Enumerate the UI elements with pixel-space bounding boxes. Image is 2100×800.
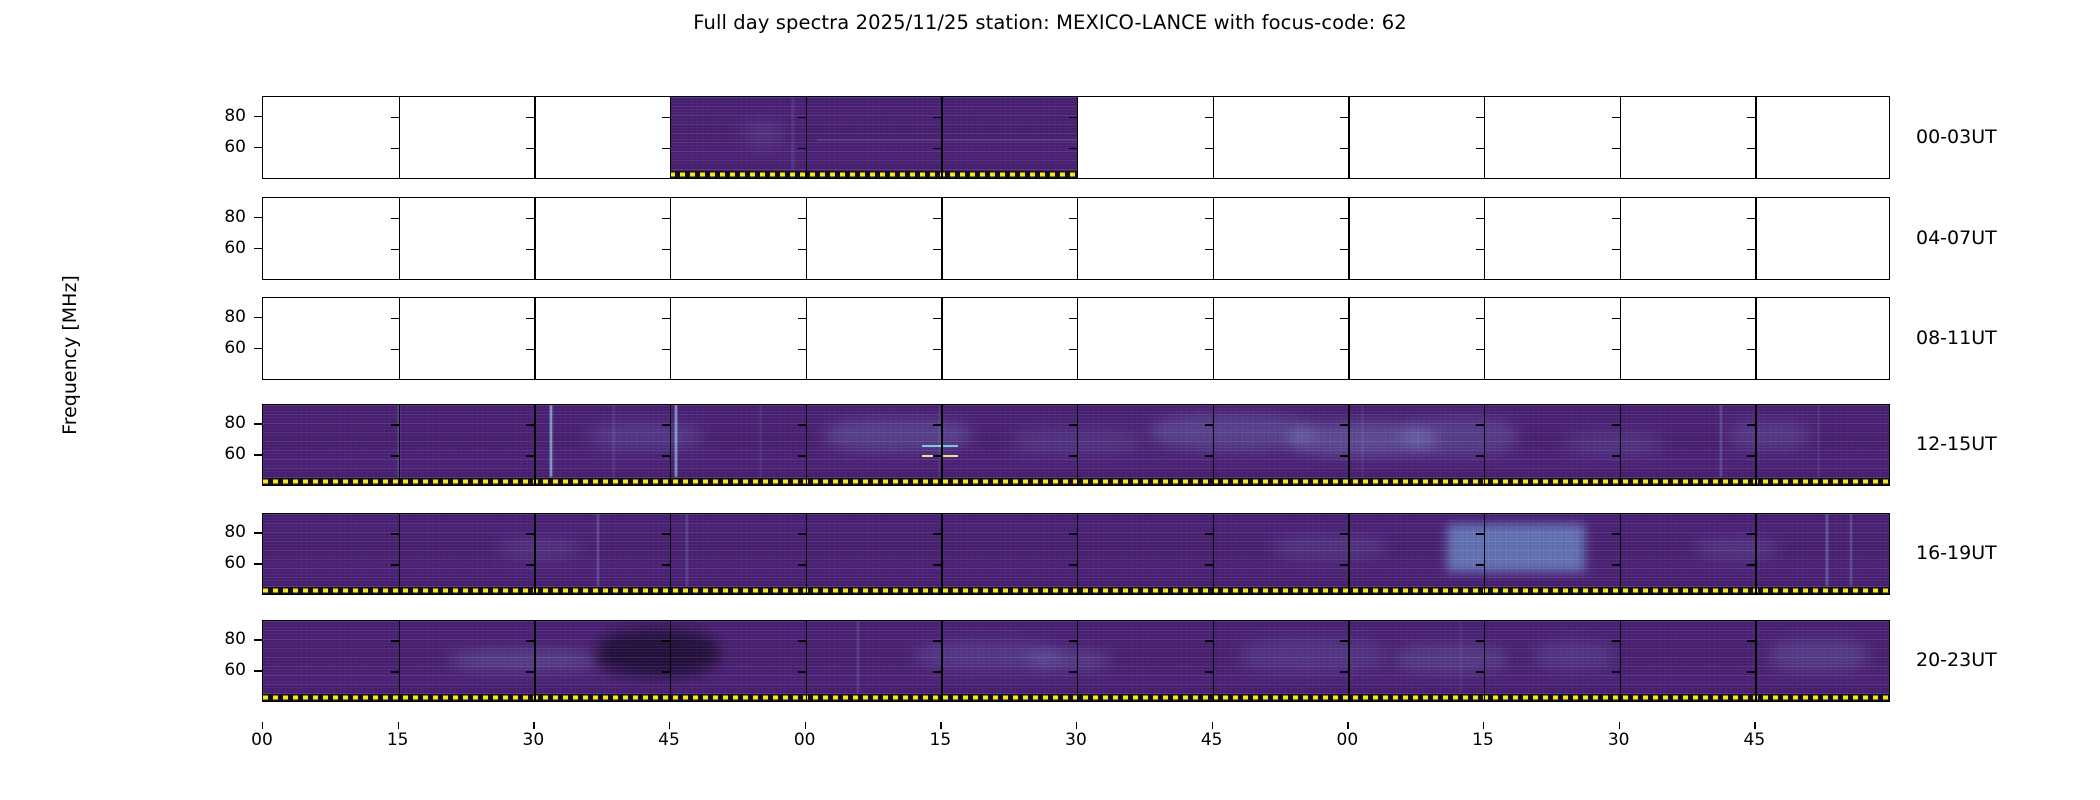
x-tick-separator [670, 198, 671, 279]
x-tick-separator [1077, 621, 1078, 701]
rfi-vertical-streak [939, 405, 940, 477]
x-tick-separator [1348, 198, 1349, 279]
y-tick-inner [526, 218, 534, 219]
x-tick [1754, 722, 1755, 729]
x-tick-separator [941, 298, 942, 379]
y-tick-label: 80 [186, 207, 246, 227]
x-tick-separator [399, 621, 400, 701]
x-tick-separator [941, 97, 942, 178]
y-tick-label: 80 [186, 106, 246, 126]
y-tick-inner [1205, 249, 1213, 250]
y-tick [254, 116, 262, 117]
x-tick-separator [1484, 405, 1485, 485]
x-tick [1619, 722, 1620, 729]
x-tick-separator [1213, 514, 1214, 594]
y-tick-inner [933, 533, 941, 534]
x-tick [940, 722, 941, 729]
x-tick-separator [534, 621, 535, 701]
y-tick-inner [1069, 218, 1077, 219]
rfi-vertical-streak [675, 405, 678, 477]
rfi-vertical-streak [550, 405, 553, 477]
y-tick-inner [1205, 533, 1213, 534]
y-tick-inner [798, 455, 806, 456]
y-tick-inner [1069, 640, 1077, 641]
x-tick-separator [534, 405, 535, 485]
vertical-noise [670, 97, 1077, 178]
y-tick-inner [1069, 117, 1077, 118]
x-tick-separator [670, 298, 671, 379]
x-tick-separator [806, 198, 807, 279]
x-tick-separator [1620, 97, 1621, 178]
x-tick-separator [1755, 621, 1756, 701]
y-tick-inner [798, 117, 806, 118]
x-tick-separator [941, 514, 942, 594]
y-tick-inner [1612, 533, 1620, 534]
y-tick-inner [391, 455, 399, 456]
y-tick-inner [391, 424, 399, 425]
y-tick [254, 317, 262, 318]
y-tick-inner [662, 640, 670, 641]
y-tick [254, 217, 262, 218]
y-tick-inner [1747, 533, 1755, 534]
x-tick-separator [1620, 405, 1621, 485]
row-label-12-15ut: 12-15UT [1916, 433, 1997, 455]
rfi-vertical-streak [792, 97, 794, 170]
y-tick-inner [1612, 349, 1620, 350]
y-tick [254, 348, 262, 349]
y-tick-inner [1612, 564, 1620, 565]
x-tick-separator [670, 621, 671, 701]
y-tick-inner [662, 671, 670, 672]
x-tick-label: 00 [232, 730, 292, 750]
y-tick-inner [933, 671, 941, 672]
y-tick [254, 532, 262, 533]
y-tick-inner [1069, 533, 1077, 534]
y-tick-inner [1747, 455, 1755, 456]
y-tick-inner [662, 455, 670, 456]
y-tick-inner [1205, 218, 1213, 219]
x-tick-separator [1213, 97, 1214, 178]
y-tick-inner [1747, 671, 1755, 672]
x-tick [1212, 722, 1213, 729]
x-tick-separator [941, 198, 942, 279]
y-tick-inner [1747, 424, 1755, 425]
y-tick-inner [391, 218, 399, 219]
y-tick-label: 60 [186, 553, 246, 573]
y-tick-inner [526, 318, 534, 319]
x-tick-separator [1484, 97, 1485, 178]
y-tick-inner [933, 148, 941, 149]
x-tick-label: 15 [1453, 730, 1513, 750]
row-label-08-11ut: 08-11UT [1916, 327, 1997, 349]
x-tick-separator [806, 514, 807, 594]
y-tick-inner [1476, 117, 1484, 118]
x-tick-separator [1077, 97, 1078, 178]
y-tick-label: 80 [186, 307, 246, 327]
x-tick-separator [1484, 621, 1485, 701]
x-tick-separator [534, 97, 535, 178]
y-tick-inner [933, 318, 941, 319]
y-tick-inner [1476, 148, 1484, 149]
x-tick-separator [806, 97, 807, 178]
rfi-vertical-streak [1818, 405, 1819, 477]
y-tick-inner [391, 318, 399, 319]
y-tick-inner [526, 148, 534, 149]
rfi-vertical-streak [1362, 405, 1363, 477]
y-tick-label: 60 [186, 238, 246, 258]
y-tick-inner [1340, 117, 1348, 118]
y-tick-inner [526, 455, 534, 456]
y-tick-inner [391, 148, 399, 149]
spectrogram-panel-04-07ut[interactable] [262, 197, 1890, 280]
spectrogram-panel-08-11ut[interactable] [262, 297, 1890, 380]
y-tick-inner [662, 218, 670, 219]
x-tick-label: 45 [639, 730, 699, 750]
x-tick-separator [1348, 621, 1349, 701]
y-tick-inner [798, 349, 806, 350]
y-tick-inner [1205, 148, 1213, 149]
y-tick-inner [1340, 533, 1348, 534]
x-tick-separator [1213, 405, 1214, 485]
y-tick-label: 60 [186, 660, 246, 680]
spectrogram-panel-12-15ut[interactable] [262, 404, 1890, 486]
x-tick-label: 15 [368, 730, 428, 750]
x-tick-label: 45 [1182, 730, 1242, 750]
y-tick-inner [1476, 533, 1484, 534]
x-tick-separator [1077, 298, 1078, 379]
x-tick [669, 722, 670, 729]
y-tick-inner [933, 349, 941, 350]
y-tick [254, 147, 262, 148]
y-tick-inner [1069, 424, 1077, 425]
narrowband-emission-line [922, 445, 958, 447]
y-tick-inner [798, 148, 806, 149]
y-tick-inner [798, 533, 806, 534]
x-tick [1483, 722, 1484, 729]
y-tick-inner [933, 249, 941, 250]
y-tick-inner [526, 671, 534, 672]
narrowband-emission-line [817, 139, 1094, 141]
y-tick-inner [1340, 318, 1348, 319]
row-label-20-23ut: 20-23UT [1916, 649, 1997, 671]
y-tick-inner [1069, 671, 1077, 672]
y-tick-inner [1205, 318, 1213, 319]
y-tick-inner [1612, 148, 1620, 149]
y-tick-inner [1069, 249, 1077, 250]
y-tick-inner [1205, 117, 1213, 118]
spectrogram-panel-00-03ut[interactable] [262, 96, 1890, 179]
y-tick-inner [662, 249, 670, 250]
y-tick-label: 80 [186, 629, 246, 649]
y-tick-inner [1747, 318, 1755, 319]
y-tick-inner [1476, 671, 1484, 672]
y-tick-inner [662, 117, 670, 118]
y-tick-inner [933, 640, 941, 641]
y-tick-label: 60 [186, 444, 246, 464]
y-tick-inner [1340, 349, 1348, 350]
y-tick [254, 248, 262, 249]
x-tick-separator [1620, 621, 1621, 701]
y-tick-inner [391, 349, 399, 350]
x-tick-label: 45 [1724, 730, 1784, 750]
x-tick-separator [1077, 198, 1078, 279]
x-tick-label: 00 [1317, 730, 1377, 750]
x-tick [262, 722, 263, 729]
x-tick-separator [1755, 514, 1756, 594]
y-tick-label: 80 [186, 413, 246, 433]
x-tick-label: 30 [503, 730, 563, 750]
y-tick-inner [1747, 249, 1755, 250]
y-tick-label: 60 [186, 338, 246, 358]
x-tick-separator [399, 405, 400, 485]
y-tick-inner [526, 349, 534, 350]
y-tick-inner [526, 424, 534, 425]
y-tick-inner [1069, 455, 1077, 456]
y-tick-inner [798, 671, 806, 672]
x-tick-separator [1348, 405, 1349, 485]
data-availability-bar [670, 171, 1077, 178]
y-tick-inner [798, 424, 806, 425]
x-tick-separator [806, 405, 807, 485]
row-label-16-19ut: 16-19UT [1916, 542, 1997, 564]
x-tick-separator [1213, 621, 1214, 701]
y-tick-inner [526, 249, 534, 250]
y-tick-inner [1612, 640, 1620, 641]
y-tick-inner [1612, 249, 1620, 250]
y-tick-inner [933, 564, 941, 565]
x-tick-label: 15 [910, 730, 970, 750]
x-tick [1076, 722, 1077, 729]
y-tick-inner [1612, 671, 1620, 672]
x-tick-separator [806, 298, 807, 379]
y-tick [254, 454, 262, 455]
y-tick-inner [1476, 455, 1484, 456]
x-tick-label: 00 [775, 730, 835, 750]
y-tick-inner [1340, 424, 1348, 425]
y-tick-inner [1476, 249, 1484, 250]
rfi-vertical-streak [857, 621, 858, 693]
y-tick-inner [1476, 640, 1484, 641]
y-tick [254, 423, 262, 424]
y-tick-label: 60 [186, 137, 246, 157]
y-tick-inner [391, 564, 399, 565]
y-tick-inner [1069, 564, 1077, 565]
y-tick-inner [526, 640, 534, 641]
y-tick-inner [662, 318, 670, 319]
y-tick-inner [1340, 148, 1348, 149]
x-tick-label: 30 [1046, 730, 1106, 750]
y-tick-inner [1476, 564, 1484, 565]
y-axis-label: Frequency [MHz] [59, 145, 81, 565]
y-tick-inner [391, 249, 399, 250]
y-tick-inner [526, 564, 534, 565]
y-tick-inner [662, 349, 670, 350]
y-tick-inner [662, 533, 670, 534]
x-tick-separator [399, 514, 400, 594]
y-tick-inner [526, 533, 534, 534]
y-tick-inner [391, 117, 399, 118]
y-tick-inner [1340, 249, 1348, 250]
x-tick-separator [1484, 514, 1485, 594]
y-tick-inner [1205, 640, 1213, 641]
rfi-vertical-streak [1826, 514, 1828, 586]
y-tick-inner [1340, 640, 1348, 641]
x-tick-separator [399, 97, 400, 178]
y-tick-inner [1205, 455, 1213, 456]
x-tick-separator [1755, 405, 1756, 485]
y-tick-inner [1476, 349, 1484, 350]
x-tick-separator [1620, 198, 1621, 279]
x-tick-separator [399, 198, 400, 279]
y-tick [254, 639, 262, 640]
y-tick-inner [1612, 424, 1620, 425]
x-tick-separator [1213, 198, 1214, 279]
rfi-vertical-streak [1720, 405, 1722, 477]
x-tick-separator [670, 405, 671, 485]
spectrogram-panel-16-19ut[interactable] [262, 513, 1890, 595]
x-tick-separator [1348, 97, 1349, 178]
x-tick-separator [670, 514, 671, 594]
rfi-vertical-streak [1460, 621, 1461, 693]
y-tick-inner [1747, 349, 1755, 350]
figure: Full day spectra 2025/11/25 station: MEX… [0, 0, 2100, 800]
rfi-vertical-streak [1850, 514, 1852, 586]
x-tick-separator [1077, 405, 1078, 485]
x-tick-separator [1348, 298, 1349, 379]
y-tick-inner [662, 424, 670, 425]
x-tick-separator [941, 621, 942, 701]
y-tick-inner [1612, 218, 1620, 219]
y-tick-inner [662, 148, 670, 149]
y-tick-inner [1747, 148, 1755, 149]
y-tick [254, 563, 262, 564]
rfi-vertical-streak [597, 514, 599, 586]
x-tick-separator [1213, 298, 1214, 379]
x-tick-separator [1077, 514, 1078, 594]
y-tick-label: 80 [186, 522, 246, 542]
x-tick [1347, 722, 1348, 729]
y-tick-inner [798, 218, 806, 219]
y-tick-inner [933, 218, 941, 219]
y-tick-inner [1340, 671, 1348, 672]
y-tick-inner [391, 640, 399, 641]
x-tick [805, 722, 806, 729]
y-tick-inner [1205, 564, 1213, 565]
y-tick-inner [1069, 148, 1077, 149]
y-tick-inner [1205, 671, 1213, 672]
x-tick-separator [534, 514, 535, 594]
x-tick-separator [534, 298, 535, 379]
y-tick-inner [391, 671, 399, 672]
x-tick-separator [670, 97, 671, 178]
x-tick [398, 722, 399, 729]
y-tick-inner [1340, 455, 1348, 456]
y-tick-inner [1069, 318, 1077, 319]
y-tick-inner [391, 533, 399, 534]
rfi-vertical-streak [686, 514, 687, 586]
y-tick-inner [1069, 349, 1077, 350]
x-tick-label: 30 [1589, 730, 1649, 750]
spectrogram-panel-20-23ut[interactable] [262, 620, 1890, 702]
x-tick-separator [399, 298, 400, 379]
y-tick [254, 670, 262, 671]
x-tick [533, 722, 534, 729]
y-tick-inner [526, 117, 534, 118]
y-tick-inner [1747, 218, 1755, 219]
y-tick-inner [1747, 117, 1755, 118]
y-tick-inner [1747, 564, 1755, 565]
x-tick-separator [1755, 198, 1756, 279]
y-tick-inner [798, 640, 806, 641]
x-tick-separator [1755, 298, 1756, 379]
y-tick-inner [1612, 117, 1620, 118]
y-tick-inner [1340, 564, 1348, 565]
x-tick-separator [941, 405, 942, 485]
row-label-00-03ut: 00-03UT [1916, 126, 1997, 148]
x-tick-separator [1484, 198, 1485, 279]
y-tick-inner [933, 424, 941, 425]
rfi-vertical-streak [613, 405, 614, 477]
x-tick-separator [806, 621, 807, 701]
y-tick-inner [1340, 218, 1348, 219]
y-tick-inner [1612, 455, 1620, 456]
x-tick-separator [1620, 514, 1621, 594]
y-tick-inner [1476, 218, 1484, 219]
x-tick-separator [1348, 514, 1349, 594]
x-tick-separator [1755, 97, 1756, 178]
y-tick-inner [1476, 424, 1484, 425]
rfi-vertical-streak [760, 405, 761, 477]
y-tick-inner [933, 117, 941, 118]
y-tick-inner [662, 564, 670, 565]
y-tick-inner [798, 318, 806, 319]
y-tick-inner [933, 455, 941, 456]
figure-title: Full day spectra 2025/11/25 station: MEX… [0, 11, 2100, 34]
y-tick-inner [1205, 349, 1213, 350]
x-tick-separator [534, 198, 535, 279]
y-tick-inner [1205, 424, 1213, 425]
y-tick-inner [798, 564, 806, 565]
y-tick-inner [1476, 318, 1484, 319]
x-tick-separator [1620, 298, 1621, 379]
spectrogram-data [670, 97, 1077, 178]
x-tick-separator [1484, 298, 1485, 379]
y-tick-inner [1747, 640, 1755, 641]
y-tick-inner [798, 249, 806, 250]
y-tick-inner [1612, 318, 1620, 319]
row-label-04-07ut: 04-07UT [1916, 227, 1997, 249]
